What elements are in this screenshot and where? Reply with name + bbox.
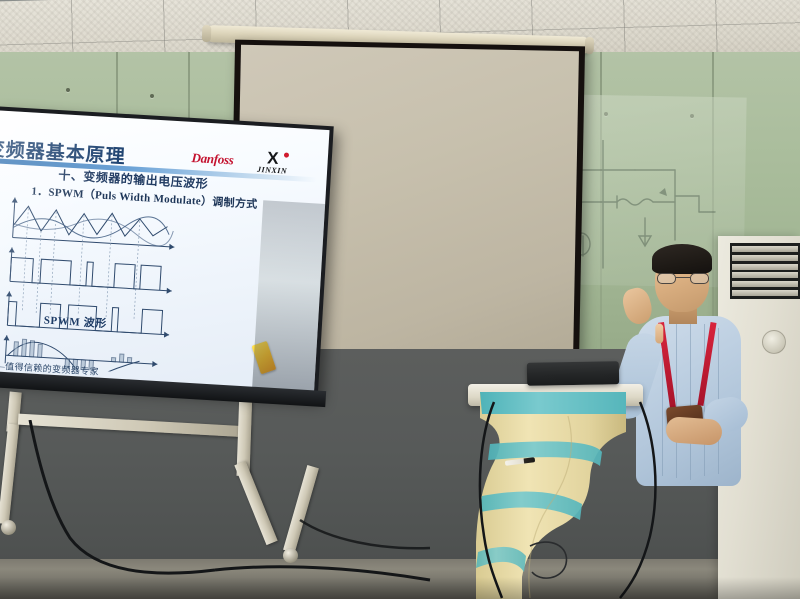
floor-cables [0,420,520,599]
danfoss-logo: Danfoss [191,150,234,168]
roller-cap-right [585,37,595,54]
classroom-photo: 变频器基本原理 Danfoss X JINXIN 十、变频器的输出电压波形 1．… [0,0,800,599]
wall-screw [150,94,154,98]
jinxin-logo: X JINXIN [257,150,288,176]
floor-shadow [0,577,800,599]
laptop[interactable] [527,361,619,386]
eyeglasses-icon [657,273,709,284]
spwm-waveform-chart [0,195,199,377]
roller-cap-left [202,25,212,42]
presenter-pointing-finger [655,324,663,344]
tv-display[interactable]: 变频器基本原理 Danfoss X JINXIN 十、变频器的输出电压波形 1．… [0,106,334,398]
jinxin-x-mark: X [257,150,288,167]
podium-cables [470,396,690,599]
ac-brand-badge [762,330,786,354]
jinxin-wordmark: JINXIN [257,165,288,176]
screen-reflection [252,200,326,393]
presenter-hair [652,244,712,274]
tv-screen-content: 变频器基本原理 Danfoss X JINXIN 十、变频器的输出电压波形 1．… [0,110,330,393]
wall-screw [66,88,70,92]
jinxin-red-dot [284,152,289,157]
